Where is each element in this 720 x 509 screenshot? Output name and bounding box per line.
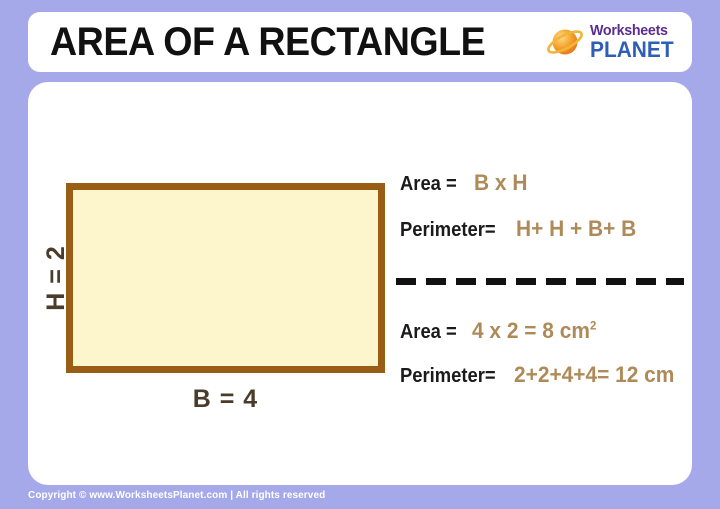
formula-label-area: Area =: [400, 173, 457, 196]
formula-row-area: Area = B x H: [400, 170, 685, 196]
general-formulas: Area = B x H Perimeter= H+ H + B+ B: [400, 170, 685, 262]
worked-example-formulas: Area = 4 x 2 = 8 cm2 Perimeter= 2+2+4+4=…: [400, 318, 690, 406]
page-title: AREA OF A RECTANGLE: [50, 22, 485, 62]
planet-icon: [546, 24, 586, 60]
worked-value-area: 4 x 2 = 8 cm2: [472, 318, 596, 344]
rectangle-figure: H = 2 B = 4: [66, 183, 385, 373]
logo-line-worksheets: Worksheets: [590, 23, 668, 38]
formula-label-perimeter: Perimeter=: [400, 219, 496, 242]
height-label: H = 2: [42, 245, 71, 310]
header-card: AREA OF A RECTANGLE Worksheets PLANET: [28, 12, 692, 72]
base-label: B = 4: [66, 385, 385, 414]
formula-value-area: B x H: [474, 170, 527, 196]
worked-value-area-sup: 2: [590, 319, 596, 333]
worked-value-perimeter: 2+2+4+4= 12 cm: [514, 362, 674, 388]
worked-row-area: Area = 4 x 2 = 8 cm2: [400, 318, 690, 344]
logo-line-planet: PLANET: [590, 39, 674, 61]
rectangle-shape: [66, 183, 385, 373]
worked-row-perimeter: Perimeter= 2+2+4+4= 12 cm: [400, 362, 690, 388]
logo-wordmark: Worksheets PLANET: [590, 23, 678, 61]
worked-label-perimeter: Perimeter=: [400, 365, 496, 388]
formula-row-perimeter: Perimeter= H+ H + B+ B: [400, 216, 685, 242]
worked-label-area: Area =: [400, 321, 457, 344]
dashed-divider: [396, 278, 684, 285]
copyright-footer: Copyright © www.WorksheetsPlanet.com | A…: [28, 490, 325, 501]
worked-value-area-text: 4 x 2 = 8 cm: [472, 318, 590, 343]
brand-logo: Worksheets PLANET: [546, 23, 678, 61]
formula-value-perimeter: H+ H + B+ B: [516, 216, 636, 242]
